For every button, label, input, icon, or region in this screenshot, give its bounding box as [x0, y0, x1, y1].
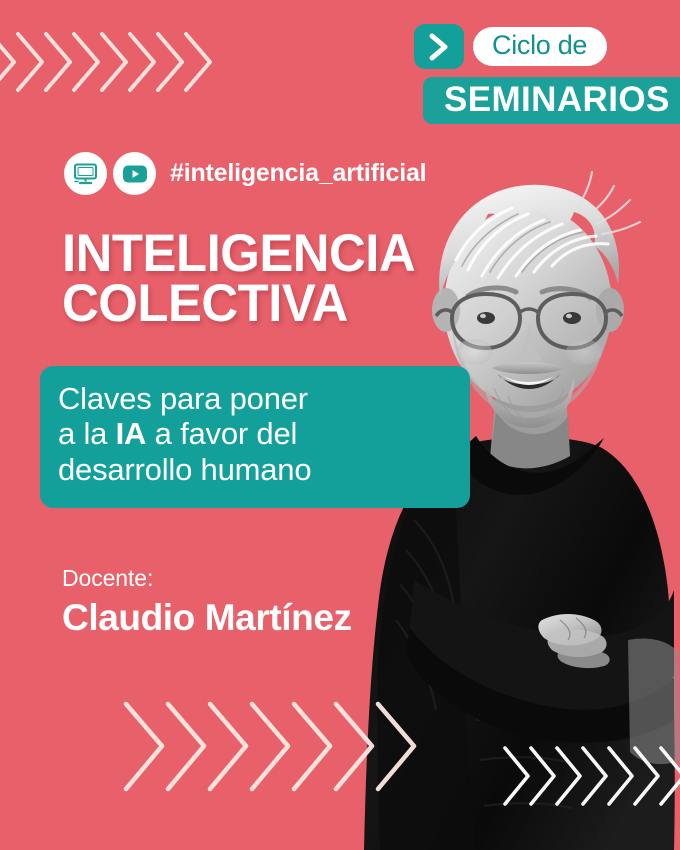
series-badge-row: Ciclo de: [414, 24, 680, 69]
speaker-block: Docente: Claudio Martínez: [62, 565, 352, 639]
chevron-right-icon: [414, 24, 464, 69]
series-type-label: SEMINARIOS: [444, 82, 670, 117]
subtitle: Claves para poner a la IA a favor del de…: [58, 381, 311, 487]
chevron-pattern-top-left: [0, 22, 234, 102]
speaker-name: Claudio Martínez: [62, 597, 352, 640]
subtitle-line-2: a la IA a favor del: [58, 416, 311, 451]
series-badge: Ciclo de SEMINARIOS: [414, 24, 680, 124]
hashtag-label: #inteligencia_artificial: [170, 159, 426, 188]
subtitle-line-2-post: a favor del: [146, 416, 297, 451]
series-type-bar: SEMINARIOS: [423, 77, 680, 124]
series-label: Ciclo de: [492, 32, 587, 59]
subtitle-keyword-ia: IA: [116, 416, 147, 451]
seminar-poster: Ciclo de SEMINARIOS #inteligencia_artifi…: [0, 0, 680, 850]
speaker-role-label: Docente:: [62, 565, 352, 593]
page-title: INTELIGENCIA COLECTIVA: [62, 229, 430, 330]
headline-line-1: INTELIGENCIA: [62, 229, 415, 279]
headline-line-2: COLECTIVA: [62, 279, 415, 329]
subtitle-line-1: Claves para poner: [58, 381, 311, 416]
youtube-play-icon: [113, 152, 156, 195]
subtitle-line-2-pre: a la: [58, 416, 116, 451]
subtitle-line-3: desarrollo humano: [58, 452, 311, 487]
series-label-pill: Ciclo de: [473, 27, 607, 66]
hashtag-row: #inteligencia_artificial: [64, 152, 426, 195]
desktop-monitor-icon: [64, 152, 107, 195]
